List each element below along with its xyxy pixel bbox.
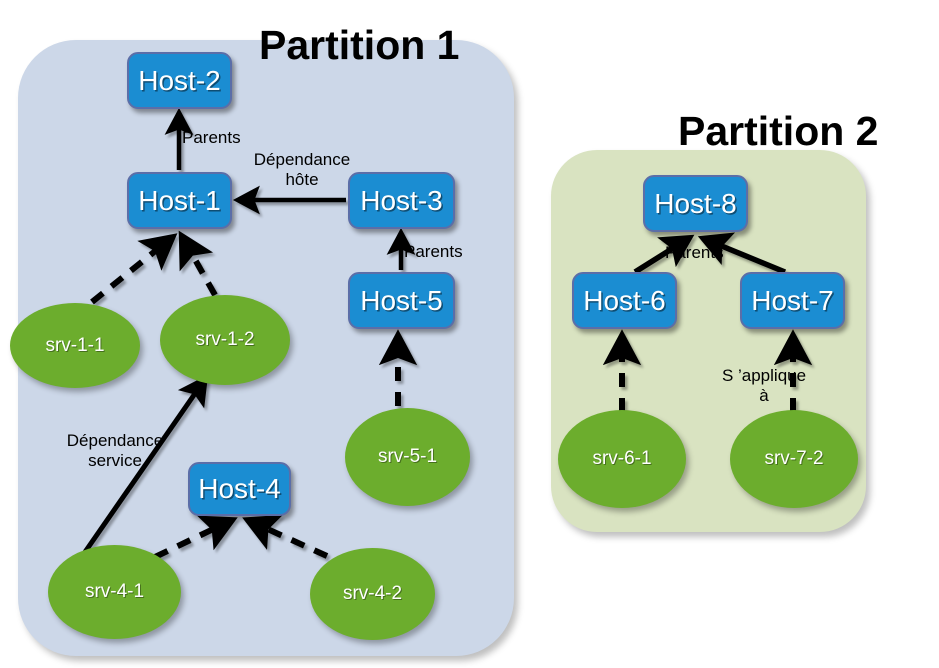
node-host-1[interactable]: Host-1 — [127, 172, 232, 229]
node-srv-7-2[interactable]: srv-7-2 — [730, 410, 858, 508]
node-host-3-label: Host-3 — [360, 185, 442, 217]
node-srv-4-1[interactable]: srv-4-1 — [48, 545, 181, 639]
node-host-2-label: Host-2 — [138, 65, 220, 97]
node-host-2[interactable]: Host-2 — [127, 52, 232, 109]
node-host-8[interactable]: Host-8 — [643, 175, 748, 232]
node-host-4[interactable]: Host-4 — [188, 462, 291, 516]
node-host-7-label: Host-7 — [751, 285, 833, 317]
node-srv-5-1[interactable]: srv-5-1 — [345, 408, 470, 506]
node-srv-5-1-label: srv-5-1 — [378, 446, 437, 468]
partition-1-title: Partition 1 — [259, 22, 459, 69]
node-host-8-label: Host-8 — [654, 188, 736, 220]
node-srv-1-2-label: srv-1-2 — [195, 329, 254, 351]
node-host-5-label: Host-5 — [360, 285, 442, 317]
node-host-7[interactable]: Host-7 — [740, 272, 845, 329]
node-host-1-label: Host-1 — [138, 185, 220, 217]
node-host-6[interactable]: Host-6 — [572, 272, 677, 329]
node-srv-6-1-label: srv-6-1 — [592, 448, 651, 470]
node-srv-7-2-label: srv-7-2 — [764, 448, 823, 470]
node-host-6-label: Host-6 — [583, 285, 665, 317]
node-srv-6-1[interactable]: srv-6-1 — [558, 410, 686, 508]
node-srv-1-1-label: srv-1-1 — [45, 335, 104, 357]
node-host-4-label: Host-4 — [198, 473, 280, 505]
node-host-5[interactable]: Host-5 — [348, 272, 455, 329]
node-srv-4-2[interactable]: srv-4-2 — [310, 548, 435, 640]
node-srv-4-1-label: srv-4-1 — [85, 581, 144, 603]
partition-2-title: Partition 2 — [678, 108, 878, 155]
node-srv-4-2-label: srv-4-2 — [343, 583, 402, 605]
node-host-3[interactable]: Host-3 — [348, 172, 455, 229]
diagram-canvas: Partition 1 Partition 2 Host-2 Host-1 Ho… — [0, 0, 939, 668]
node-srv-1-1[interactable]: srv-1-1 — [10, 303, 140, 388]
node-srv-1-2[interactable]: srv-1-2 — [160, 295, 290, 385]
